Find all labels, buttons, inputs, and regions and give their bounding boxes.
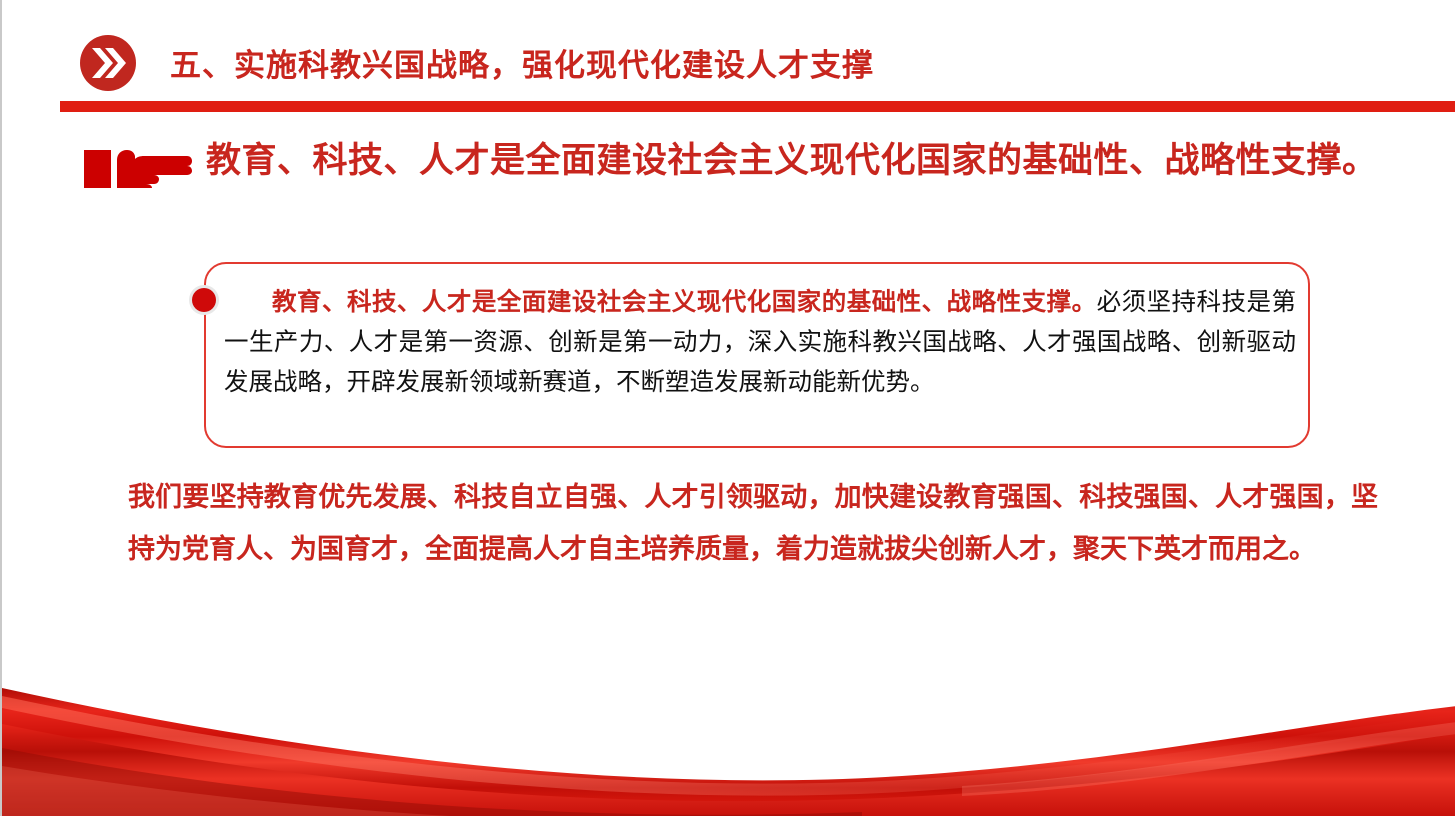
slide-canvas: 五、实施科教兴国战略，强化现代化建设人才支撑 教育、科技、人才是全面建设社会主义… (0, 0, 1455, 816)
quote-emphasis: 教育、科技、人才是全面建设社会主义现代化国家的基础性、战略性支撑。 (272, 287, 1097, 316)
red-silk-ribbon-decoration (2, 666, 1455, 816)
slide-header: 五、实施科教兴国战略，强化现代化建设人才支撑 (2, 0, 1455, 118)
pointing-hand-right-icon (84, 146, 194, 192)
page-title: 五、实施科教兴国战略，强化现代化建设人才支撑 (170, 40, 874, 85)
red-dot-bullet-icon (192, 288, 216, 312)
heading-text: 教育、科技、人才是全面建设社会主义现代化国家的基础性、战略性支撑。 (206, 138, 1436, 185)
header-divider-bar (60, 101, 1455, 112)
quote-text: 教育、科技、人才是全面建设社会主义现代化国家的基础性、战略性支撑。必须坚持科技是… (224, 282, 1296, 402)
closing-paragraph: 我们要坚持教育优先发展、科技自立自强、人才引领驱动，加快建设教育强国、科技强国、… (128, 472, 1378, 576)
double-chevron-right-icon (80, 35, 136, 91)
